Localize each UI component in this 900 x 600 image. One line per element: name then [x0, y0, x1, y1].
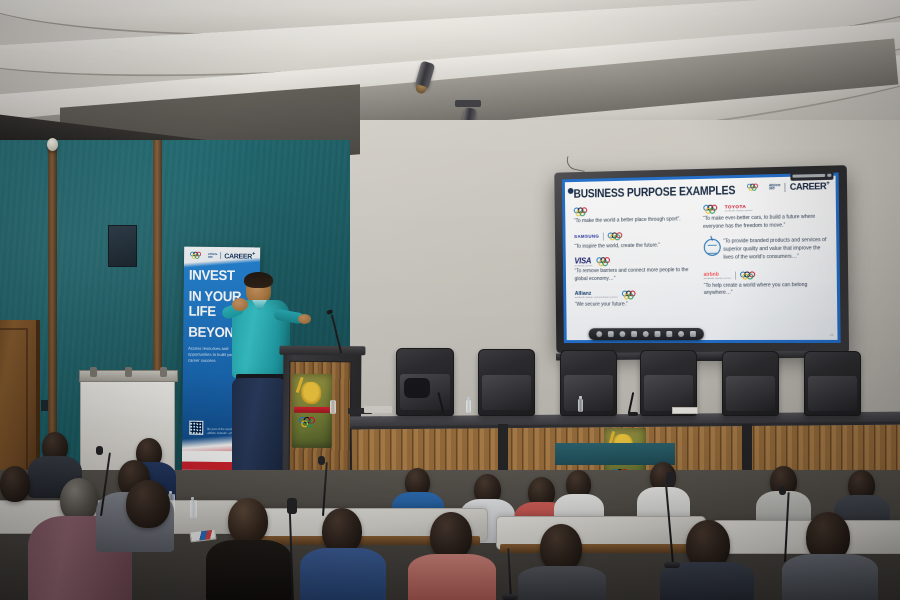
audience-head [126, 480, 170, 528]
entry-logos [574, 204, 693, 216]
presentation-slide: BUSINESS PURPOSE EXAMPLES Athlete 365 CA… [565, 176, 838, 340]
teal-wall-segment [555, 443, 675, 465]
audience-body [408, 554, 496, 600]
partner-subtitle: worldwide olympic and paralympic partner [575, 297, 618, 299]
purpose-quote: “We secure your future.” [575, 301, 694, 309]
panel-chair[interactable] [560, 350, 617, 416]
audience-body [518, 566, 606, 600]
audience-head [540, 524, 582, 572]
career-plus-logo: CAREER+ [224, 251, 255, 261]
olympic-rings-icon [703, 205, 721, 213]
divider [735, 271, 736, 279]
purpose-entry: VISA worldwide partner “To remove barrie… [574, 256, 693, 285]
pg-badge-icon [703, 239, 720, 256]
purpose-quote: “To make ever-better cars, to build a fu… [703, 214, 827, 232]
water-bottle [190, 500, 197, 518]
athlete365-logo: Athlete 365 [769, 184, 781, 191]
olympic-rings-icon [299, 417, 320, 426]
divider [603, 232, 604, 240]
ceiling-downlight-icon [47, 138, 58, 151]
presenter-trousers [232, 378, 286, 476]
lectern-top [279, 346, 365, 356]
partner-subtitle: worldwide olympic partner [704, 277, 732, 279]
microphone-head-icon [287, 498, 297, 514]
olympic-rings-icon [747, 184, 761, 191]
olympic-rings-icon [190, 251, 202, 257]
banner-headline-line1: INVEST [189, 268, 252, 283]
menu-label-icon [792, 174, 825, 178]
document-on-table [364, 406, 392, 413]
slide-columns: “To make the world a better place throug… [574, 201, 829, 340]
panel-chair[interactable] [722, 351, 779, 416]
entry-logos: airbnb worldwide olympic partner [704, 269, 828, 280]
highlight-icon[interactable] [643, 331, 649, 337]
panel-chair[interactable] [478, 349, 535, 416]
clip-icon [90, 367, 97, 377]
allianz-logo: Allianz worldwide olympic and paralympic… [575, 291, 618, 299]
light-switch[interactable] [41, 400, 48, 411]
water-bottle [330, 400, 336, 414]
presenter-hand-left [232, 298, 248, 311]
entry-logos: VISA worldwide partner [574, 256, 693, 267]
purpose-entry: TOYOTA worldwide olympic partner “To mak… [703, 201, 827, 231]
partner-subtitle: worldwide partner [574, 265, 592, 267]
athlete365-logo: Athlete 365 [208, 252, 218, 258]
audience-head [228, 498, 268, 544]
purpose-entry: SAMSUNG “To inspire the world, create th… [574, 230, 693, 251]
slide-brand-lockup: Athlete 365 CAREER+ [747, 181, 830, 193]
purpose-quote: “To provide branded products and service… [723, 237, 827, 262]
audience-body [300, 548, 386, 600]
track-mount [455, 100, 481, 107]
close-icon[interactable] [690, 331, 696, 337]
presenter-hand-right [298, 314, 311, 324]
audience-body [782, 554, 878, 600]
emblem-banner [294, 407, 330, 413]
display-menu-chip[interactable] [790, 173, 833, 181]
select-icon[interactable] [619, 331, 625, 337]
presenter-hair [244, 272, 273, 288]
microphone-head-icon [666, 472, 675, 486]
qr-code-icon[interactable] [189, 421, 203, 435]
clip-icon [160, 367, 167, 377]
shape-icon[interactable] [631, 331, 637, 337]
microphone-base [628, 412, 638, 416]
purpose-quote: “To inspire the world, create the future… [574, 242, 693, 251]
water-bottle [466, 400, 471, 413]
noc-emblem-plaque [292, 374, 333, 448]
lion-icon [301, 382, 321, 404]
nameplate [672, 407, 698, 414]
panel-chair[interactable] [804, 351, 861, 416]
microphone-head-icon [779, 486, 786, 495]
water-bottle [578, 399, 583, 412]
audience-head [430, 512, 472, 560]
auditorium-scene: BUSINESS PURPOSE EXAMPLES Athlete 365 CA… [0, 0, 900, 600]
wall-panel-plate [108, 225, 137, 267]
more-icon[interactable] [678, 331, 684, 337]
airbnb-logo: airbnb worldwide olympic partner [704, 271, 732, 279]
entry-logos: TOYOTA worldwide olympic partner [703, 201, 827, 214]
audience-head [0, 466, 30, 502]
career-plus-logo: CAREER+ [790, 181, 830, 192]
divider [220, 252, 221, 259]
slide-column-right: TOYOTA worldwide olympic partner “To mak… [701, 201, 829, 340]
entry-logos: SAMSUNG [574, 230, 693, 242]
microphone-head-icon [96, 446, 103, 455]
interactive-flat-panel-display[interactable]: BUSINESS PURPOSE EXAMPLES Athlete 365 CA… [554, 165, 849, 353]
purpose-quote: “To remove barriers and connect more peo… [574, 268, 693, 285]
olympic-rings-icon [608, 232, 626, 240]
slide-page-number: 10 [830, 333, 833, 337]
audience-body [206, 540, 292, 600]
entry-logos: Allianz worldwide olympic and paralympic… [575, 289, 694, 300]
purpose-entry: airbnb worldwide olympic partner “To hel… [704, 269, 828, 298]
pen-icon[interactable] [596, 331, 602, 337]
microphone-base [434, 412, 444, 416]
banner-logo-lockup: Athlete 365 CAREER+ [189, 250, 255, 262]
purpose-quote: “To help create a world where you can be… [704, 281, 828, 298]
purpose-entry: “To provide branded products and service… [703, 237, 827, 262]
clip-icon [125, 367, 132, 377]
close-icon[interactable] [827, 174, 831, 177]
visa-logo: VISA worldwide partner [574, 256, 592, 267]
samsung-logo: SAMSUNG [574, 234, 599, 239]
divider [785, 182, 786, 191]
entry-text: “To provide branded products and service… [723, 237, 827, 262]
annotation-toolbar[interactable] [589, 328, 704, 340]
purpose-quote: “To make the world a better place throug… [574, 216, 693, 226]
olympic-rings-icon [596, 258, 613, 266]
eraser-icon[interactable] [608, 331, 614, 337]
microphone-base [502, 594, 518, 600]
capture-icon[interactable] [666, 331, 672, 337]
toyota-logo: TOYOTA worldwide olympic partner [725, 204, 753, 212]
partner-subtitle: worldwide olympic partner [725, 209, 753, 212]
slide-column-left: “To make the world a better place throug… [574, 204, 695, 340]
undo-icon[interactable] [655, 331, 661, 337]
microphone-head-icon [318, 456, 325, 465]
purpose-entry: Allianz worldwide olympic and paralympic… [575, 289, 694, 309]
microphone-base [664, 562, 680, 568]
bag-on-table [404, 378, 430, 398]
olympic-rings-icon [622, 290, 640, 298]
display-inner-bezel: BUSINESS PURPOSE EXAMPLES Athlete 365 CA… [562, 173, 841, 344]
olympic-rings-icon [574, 207, 591, 215]
purpose-entry: “To make the world a better place throug… [574, 204, 693, 226]
flipchart-clamp [79, 370, 178, 382]
olympic-rings-icon [740, 271, 758, 279]
